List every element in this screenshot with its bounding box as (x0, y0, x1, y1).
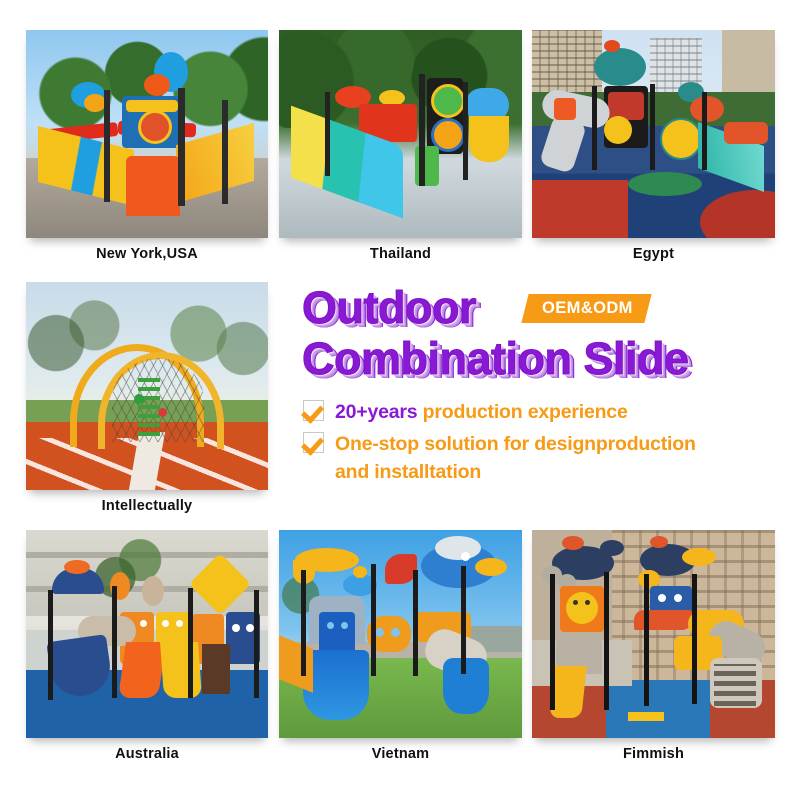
promo-bullet-1-rest: production experience (417, 401, 627, 423)
promo-bullet-1-highlight: 20+years (335, 401, 417, 423)
gallery-photo-thailand (279, 30, 522, 238)
promo-bullet-1: 20+years production experience (303, 398, 628, 426)
gallery-photo-fimmish (532, 530, 775, 738)
poster-canvas: New York,USA Thailand (0, 0, 800, 800)
gallery-photo-egypt (532, 30, 775, 238)
gallery-caption-fimmish: Fimmish (532, 746, 775, 762)
promo-title-line2: Combination Slide (302, 336, 689, 382)
promo-title-line1: Outdoor (302, 285, 476, 331)
gallery-card-australia[interactable]: Australia (26, 530, 268, 738)
gallery-card-new-york[interactable]: New York,USA (26, 30, 268, 238)
check-icon (303, 400, 324, 421)
promo-bullet-2: One-stop solution for designproduction a… (303, 430, 696, 487)
gallery-card-fimmish[interactable]: Fimmish (532, 530, 775, 738)
gallery-card-thailand[interactable]: Thailand (279, 30, 522, 238)
gallery-photo-new-york (26, 30, 268, 238)
gallery-caption-vietnam: Vietnam (279, 746, 522, 762)
promo-bullet-1-text: 20+years production experience (335, 398, 628, 426)
gallery-photo-intellectually (26, 282, 268, 490)
check-icon (303, 432, 324, 453)
promo-bullet-2-line2: and installtation (335, 458, 696, 486)
gallery-photo-australia (26, 530, 268, 738)
gallery-caption-australia: Australia (26, 746, 268, 762)
gallery-card-egypt[interactable]: Egypt (532, 30, 775, 238)
gallery-card-vietnam[interactable]: Vietnam (279, 530, 522, 738)
gallery-caption-intellectually: Intellectually (26, 498, 268, 514)
gallery-caption-thailand: Thailand (279, 246, 522, 262)
gallery-photo-vietnam (279, 530, 522, 738)
gallery-caption-new-york: New York,USA (26, 246, 268, 262)
oem-odm-badge: OEM&ODM (521, 294, 651, 323)
gallery-caption-egypt: Egypt (532, 246, 775, 262)
oem-odm-badge-label: OEM&ODM (542, 299, 633, 318)
promo-bullet-2-text: One-stop solution for designproduction a… (335, 430, 696, 487)
promo-bullet-2-line1: One-stop solution for designproduction (335, 430, 696, 458)
gallery-card-intellectually[interactable]: Intellectually (26, 282, 268, 490)
